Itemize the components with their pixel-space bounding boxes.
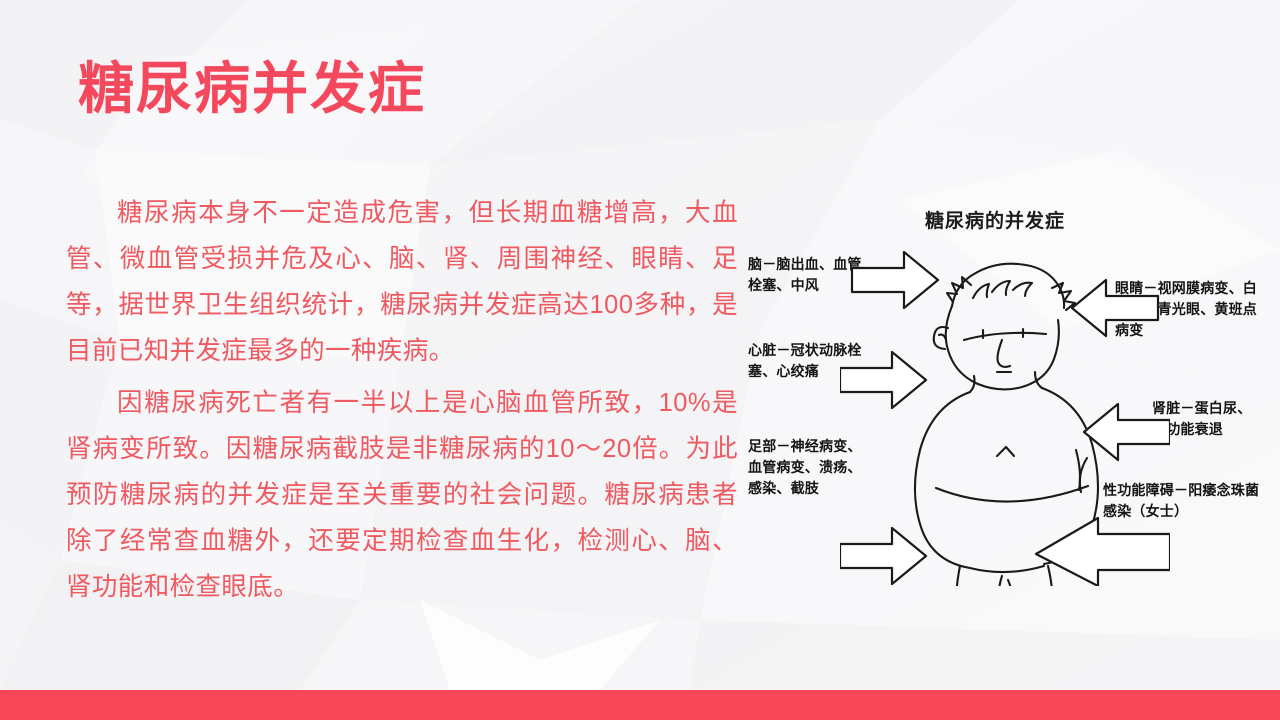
arrow-kidney — [1084, 404, 1170, 460]
paragraph-1: 糖尿病本身不一定造成危害，但长期血糖增高，大血管、微血管受损并危及心、脑、肾、周… — [66, 190, 738, 374]
diagram-title: 糖尿病的并发症 — [925, 206, 1065, 233]
arrow-sexual-function — [1036, 518, 1170, 586]
paragraph-2: 因糖尿病死亡者有一半以上是心脑血管所致，10%是肾病变所致。因糖尿病截肢是非糖尿… — [66, 380, 738, 610]
bottom-accent-bar — [0, 690, 1280, 720]
obese-person-illustration — [840, 236, 1170, 586]
arrow-eye — [1072, 280, 1158, 336]
body-text-block: 糖尿病本身不一定造成危害，但长期血糖增高，大血管、微血管受损并危及心、脑、肾、周… — [66, 190, 738, 616]
arrow-brain — [852, 252, 938, 308]
arrow-heart — [840, 352, 926, 408]
slide-canvas: 糖尿病并发症 糖尿病本身不一定造成危害，但长期血糖增高，大血管、微血管受损并危及… — [0, 0, 1280, 720]
page-title: 糖尿病并发症 — [78, 58, 426, 120]
arrow-foot — [840, 528, 926, 584]
complications-diagram: 糖尿病的并发症 脑－脑出血、血管栓塞、中风 心脏－冠状动脉栓塞、心绞痛 足部－神… — [740, 196, 1270, 596]
